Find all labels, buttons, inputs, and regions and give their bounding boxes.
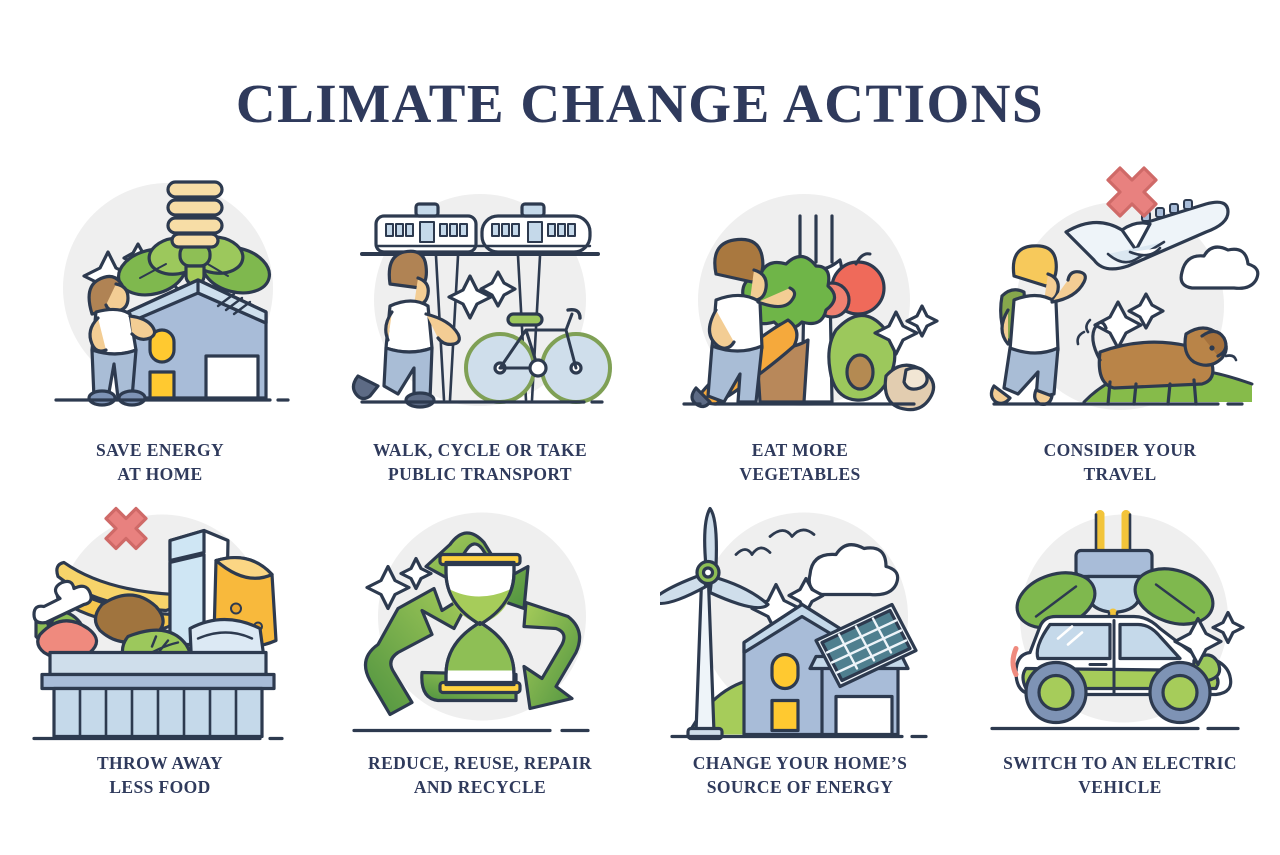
action-caption: WALK, CYCLE OR TAKE PUBLIC TRANSPORT bbox=[373, 439, 587, 486]
actions-row-1: SAVE ENERGY AT HOME bbox=[0, 160, 1280, 486]
action-card-save-energy[interactable]: SAVE ENERGY AT HOME bbox=[0, 160, 320, 486]
wind-turbine-solar-house-icon bbox=[660, 486, 940, 748]
recycle-hourglass-icon bbox=[340, 486, 620, 748]
vegetables-fork-icon bbox=[660, 160, 940, 435]
action-caption: EAT MORE VEGETABLES bbox=[739, 439, 860, 486]
action-card-public-transport[interactable]: WALK, CYCLE OR TAKE PUBLIC TRANSPORT bbox=[320, 160, 640, 486]
train-bicycle-walker-icon bbox=[340, 160, 620, 435]
actions-row-2: THROW AWAY LESS FOOD bbox=[0, 486, 1280, 799]
action-caption: CONSIDER YOUR TRAVEL bbox=[1044, 439, 1197, 486]
infographic-page: CLIMATE CHANGE ACTIONS bbox=[0, 0, 1280, 855]
action-card-eat-vegetables[interactable]: EAT MORE VEGETABLES bbox=[640, 160, 960, 486]
airplane-crossed-dog-walk-icon bbox=[980, 160, 1260, 435]
action-card-consider-travel[interactable]: CONSIDER YOUR TRAVEL bbox=[960, 160, 1280, 486]
action-caption: SAVE ENERGY AT HOME bbox=[96, 439, 224, 486]
food-waste-bin-icon bbox=[20, 486, 300, 748]
house-bulb-plant-icon bbox=[20, 160, 300, 435]
actions-grid: SAVE ENERGY AT HOME bbox=[0, 160, 1280, 800]
action-card-less-food-waste[interactable]: THROW AWAY LESS FOOD bbox=[0, 486, 320, 799]
action-card-recycle[interactable]: REDUCE, REUSE, REPAIR AND RECYCLE bbox=[320, 486, 640, 799]
action-card-electric-vehicle[interactable]: SWITCH TO AN ELECTRIC VEHICLE bbox=[960, 486, 1280, 799]
action-card-home-energy-source[interactable]: CHANGE YOUR HOME’S SOURCE OF ENERGY bbox=[640, 486, 960, 799]
electric-car-plug-leaves-icon bbox=[980, 486, 1260, 748]
page-title: CLIMATE CHANGE ACTIONS bbox=[0, 72, 1280, 135]
